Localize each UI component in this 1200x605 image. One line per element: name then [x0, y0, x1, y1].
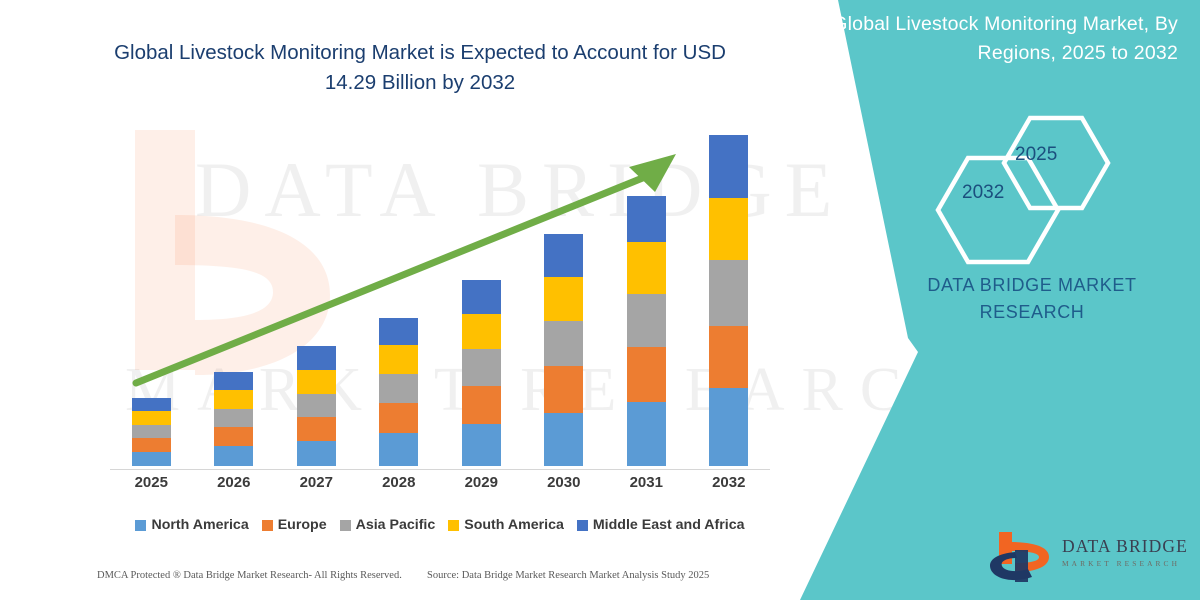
- legend-swatch: [577, 520, 588, 531]
- bar-segment: [544, 234, 583, 277]
- x-axis-line: [110, 469, 770, 470]
- logo-title: DATA BRIDGE: [1062, 536, 1188, 557]
- bar-segment: [544, 277, 583, 321]
- bar-segment: [462, 349, 501, 386]
- bar-column: [110, 140, 193, 466]
- legend-label: Europe: [278, 517, 327, 533]
- footer: DMCA Protected ® Data Bridge Market Rese…: [0, 566, 780, 594]
- bar-segment: [297, 394, 336, 417]
- x-axis-tick: 2032: [688, 474, 771, 498]
- hex-label-2032: 2032: [962, 182, 1004, 204]
- legend-swatch: [262, 520, 273, 531]
- legend-item[interactable]: Asia Pacific: [340, 517, 436, 533]
- bar-segment: [627, 402, 666, 466]
- bar-segment: [627, 347, 666, 402]
- stacked-bar: [709, 135, 748, 466]
- bar-segment: [379, 433, 418, 466]
- bar-column: [275, 140, 358, 466]
- bar-segment: [627, 242, 666, 294]
- bar-segment: [627, 196, 666, 242]
- legend-item[interactable]: Middle East and Africa: [577, 517, 745, 533]
- chart-title: Global Livestock Monitoring Market is Ex…: [105, 38, 735, 98]
- x-axis-tick: 2028: [358, 474, 441, 498]
- bar-segment: [709, 388, 748, 466]
- bar-segment: [214, 409, 253, 427]
- bar-segment: [462, 424, 501, 466]
- logo-subtitle: MARKET RESEARCH: [1062, 559, 1188, 568]
- bar-segment: [132, 425, 171, 438]
- bar-segment: [297, 370, 336, 394]
- x-axis-labels: 20252026202720282029203020312032: [110, 474, 770, 498]
- plot-area: [110, 140, 770, 470]
- bar-segment: [709, 198, 748, 260]
- stacked-bar: [544, 234, 583, 466]
- legend-label: Asia Pacific: [356, 517, 436, 533]
- bar-segment: [297, 346, 336, 370]
- bar-segment: [297, 441, 336, 466]
- bar-segment: [214, 427, 253, 446]
- logo-text: DATA BRIDGE MARKET RESEARCH: [1062, 536, 1188, 568]
- bar-segment: [379, 318, 418, 345]
- footer-source: Source: Data Bridge Market Research Mark…: [427, 570, 709, 581]
- legend-swatch: [448, 520, 459, 531]
- bar-column: [688, 140, 771, 466]
- panel-brand: DATA BRIDGE MARKET RESEARCH: [882, 272, 1182, 326]
- bar-segment: [132, 411, 171, 425]
- legend-item[interactable]: Europe: [262, 517, 327, 533]
- hex-label-2025: 2025: [1015, 144, 1057, 166]
- bar-segment: [379, 403, 418, 433]
- bar-segment: [132, 398, 171, 411]
- legend-label: North America: [151, 517, 248, 533]
- bar-segment: [379, 345, 418, 374]
- legend-label: South America: [464, 517, 564, 533]
- chart-legend: North AmericaEuropeAsia PacificSouth Ame…: [110, 512, 770, 538]
- bar-column: [605, 140, 688, 466]
- bar-segment: [709, 135, 748, 198]
- stacked-bar: [462, 280, 501, 466]
- x-axis-tick: 2029: [440, 474, 523, 498]
- bar-segment: [297, 417, 336, 441]
- infographic-root: DATA BRIDGE MARKET RESEARCH Global Lives…: [0, 0, 1200, 600]
- bar-column: [440, 140, 523, 466]
- bar-segment: [132, 452, 171, 466]
- x-axis-tick: 2026: [193, 474, 276, 498]
- bar-group: [110, 140, 770, 466]
- stacked-bar: [214, 372, 253, 466]
- legend-label: Middle East and Africa: [593, 517, 745, 533]
- bar-segment: [214, 390, 253, 409]
- x-axis-tick: 2025: [110, 474, 193, 498]
- bar-segment: [627, 294, 666, 347]
- bar-segment: [462, 280, 501, 314]
- bar-segment: [544, 366, 583, 413]
- legend-swatch: [135, 520, 146, 531]
- legend-swatch: [340, 520, 351, 531]
- x-axis-tick: 2027: [275, 474, 358, 498]
- bar-segment: [462, 386, 501, 424]
- bar-column: [358, 140, 441, 466]
- bar-segment: [544, 321, 583, 366]
- x-axis-tick: 2031: [605, 474, 688, 498]
- stacked-bar: [297, 346, 336, 466]
- bar-column: [523, 140, 606, 466]
- stacked-bar: [132, 398, 171, 466]
- bar-segment: [132, 438, 171, 452]
- legend-item[interactable]: North America: [135, 517, 248, 533]
- footer-copyright: DMCA Protected ® Data Bridge Market Rese…: [97, 570, 402, 581]
- stacked-bar: [379, 318, 418, 466]
- x-axis-tick: 2030: [523, 474, 606, 498]
- bar-segment: [709, 260, 748, 326]
- bar-segment: [214, 372, 253, 390]
- bar-segment: [214, 446, 253, 466]
- bar-segment: [379, 374, 418, 403]
- stacked-bar: [627, 196, 666, 466]
- legend-item[interactable]: South America: [448, 517, 564, 533]
- bar-segment: [544, 413, 583, 466]
- bar-segment: [462, 314, 501, 349]
- bar-column: [193, 140, 276, 466]
- bar-segment: [709, 326, 748, 388]
